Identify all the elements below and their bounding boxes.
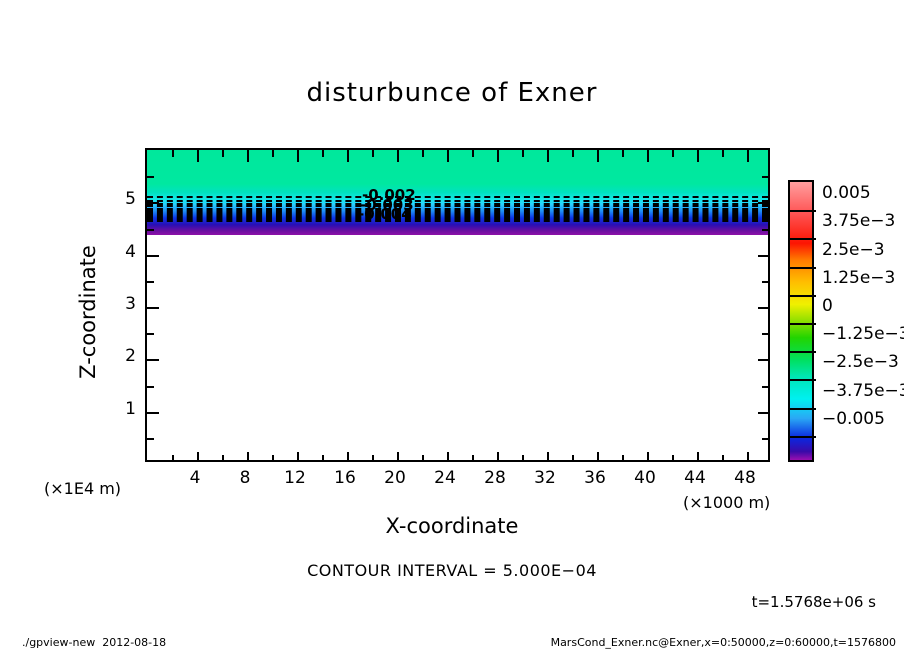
contour-line: [147, 196, 768, 198]
tick-mark: [147, 412, 159, 414]
tick-mark: [547, 452, 549, 460]
y-tick-label: 1: [96, 399, 136, 419]
tick-mark: [422, 150, 424, 157]
colorbar-separator: [790, 267, 816, 269]
tick-mark: [447, 452, 449, 460]
colorbar-tick-label: −3.75e−3: [822, 381, 904, 401]
colorbar-separator: [790, 323, 816, 325]
tick-mark: [247, 150, 249, 162]
tick-mark: [272, 455, 274, 460]
tick-mark: [322, 455, 324, 460]
tick-mark: [472, 150, 474, 157]
colorbar-tick-label: −0.005: [822, 409, 885, 429]
tick-mark: [222, 455, 224, 460]
tick-mark: [147, 307, 159, 309]
colorbar-tick-label: 0: [822, 296, 833, 316]
tick-mark: [697, 150, 699, 162]
colorbar-tick-label: 2.5e−3: [822, 240, 885, 260]
tick-mark: [497, 150, 499, 162]
tick-mark: [722, 150, 724, 157]
contour-line: [147, 200, 768, 202]
tick-mark: [472, 455, 474, 460]
tick-mark: [297, 452, 299, 460]
time-label: t=1.5768e+06 s: [0, 593, 876, 611]
tick-mark: [758, 359, 768, 361]
x-axis-title: X-coordinate: [0, 514, 904, 538]
contour-fill-band: [147, 150, 768, 235]
tick-mark: [347, 452, 349, 460]
tick-mark: [758, 202, 768, 204]
colorbar-tick-label: 1.25e−3: [822, 268, 895, 288]
colorbar-tick-label: −2.5e−3: [822, 352, 899, 372]
y-axis-title: Z-coordinate: [76, 202, 100, 422]
tick-mark: [758, 412, 768, 414]
tick-mark: [762, 176, 768, 178]
tick-mark: [547, 150, 549, 162]
tick-mark: [172, 150, 174, 157]
contour-value-label: -0.004: [358, 205, 412, 223]
tick-mark: [758, 307, 768, 309]
tick-mark: [147, 281, 154, 283]
colorbar-tick-label: −1.25e−3: [822, 324, 904, 344]
tick-mark: [272, 150, 274, 157]
tick-mark: [172, 455, 174, 460]
tick-mark: [572, 455, 574, 460]
tick-mark: [497, 452, 499, 460]
plot-canvas: disturbunce of Exner -0.002-0.003-0.004 …: [0, 0, 904, 654]
y-tick-label: 2: [96, 346, 136, 366]
x-tick-label: 48: [715, 468, 775, 488]
tick-mark: [762, 438, 768, 440]
tick-mark: [197, 150, 199, 162]
colorbar-separator: [790, 436, 816, 438]
tick-mark: [762, 386, 768, 388]
tick-mark: [697, 452, 699, 460]
tick-mark: [647, 150, 649, 162]
colorbar: [788, 180, 814, 462]
page-title: disturbunce of Exner: [0, 78, 904, 108]
tick-mark: [322, 150, 324, 157]
tick-mark: [397, 452, 399, 460]
tick-mark: [397, 150, 399, 162]
tick-mark: [762, 333, 768, 335]
tick-mark: [222, 150, 224, 157]
tick-mark: [197, 452, 199, 460]
tick-mark: [597, 150, 599, 162]
colorbar-tick-label: 0.005: [822, 183, 871, 203]
tick-mark: [597, 452, 599, 460]
plot-area: [145, 148, 770, 462]
contour-interval-label: CONTOUR INTERVAL = 5.000E−04: [0, 561, 904, 580]
tick-mark: [372, 455, 374, 460]
tick-mark: [647, 452, 649, 460]
tick-mark: [147, 333, 154, 335]
tick-mark: [747, 452, 749, 460]
tick-mark: [422, 455, 424, 460]
tick-mark: [722, 455, 724, 460]
tick-mark: [147, 438, 154, 440]
contour-line: [147, 220, 768, 222]
footer-source-label: MarsCond_Exner.nc@Exner,x=0:50000,z=0:60…: [0, 636, 896, 649]
tick-mark: [147, 386, 154, 388]
tick-mark: [297, 150, 299, 162]
tick-mark: [522, 455, 524, 460]
y-tick-label: 5: [96, 189, 136, 209]
tick-mark: [758, 255, 768, 257]
tick-mark: [672, 150, 674, 157]
tick-mark: [372, 150, 374, 157]
tick-mark: [522, 150, 524, 157]
y-tick-label: 3: [96, 294, 136, 314]
tick-mark: [147, 202, 159, 204]
colorbar-separator: [790, 210, 816, 212]
tick-mark: [447, 150, 449, 162]
colorbar-separator: [790, 379, 816, 381]
tick-mark: [347, 150, 349, 162]
y-axis-unit-label: (×1E4 m): [44, 479, 121, 498]
tick-mark: [747, 150, 749, 162]
tick-mark: [147, 359, 159, 361]
tick-mark: [762, 229, 768, 231]
tick-mark: [247, 452, 249, 460]
colorbar-separator: [790, 238, 816, 240]
tick-mark: [147, 176, 154, 178]
colorbar-separator: [790, 408, 816, 410]
tick-mark: [672, 455, 674, 460]
tick-mark: [572, 150, 574, 157]
tick-mark: [762, 281, 768, 283]
colorbar-separator: [790, 351, 816, 353]
colorbar-tick-label: 3.75e−3: [822, 211, 895, 231]
tick-mark: [147, 255, 159, 257]
x-axis-unit-label: (×1000 m): [683, 493, 770, 512]
tick-mark: [622, 150, 624, 157]
colorbar-separator: [790, 295, 816, 297]
tick-mark: [147, 229, 154, 231]
tick-mark: [622, 455, 624, 460]
y-tick-label: 4: [96, 242, 136, 262]
